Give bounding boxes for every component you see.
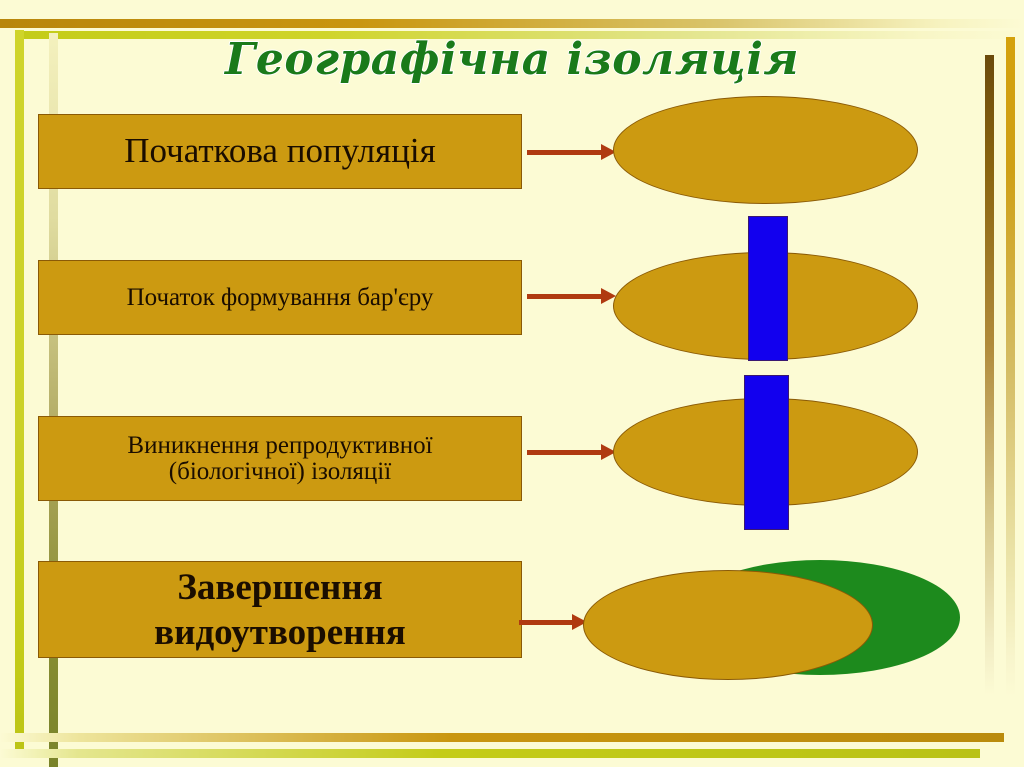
stage-1-population-ellipse [613,96,918,204]
stage-3-label-line-1: Виникнення репродуктивної [127,433,432,459]
stage-3-barrier-bar [744,375,789,530]
slide-canvas: Географічна ізоляція Початкова популяція… [0,0,1024,767]
frame-bar-bottom-inner [0,749,980,758]
arrow-shaft-icon [527,450,602,455]
frame-bar-right-outer [985,55,994,695]
frame-bar-top-outer [0,19,1024,28]
stage-2-arrow [527,292,616,300]
stage-4-arrow [519,618,587,626]
stage-4-label-box: Завершення видоутворення [38,561,522,658]
arrow-shaft-icon [519,620,573,625]
frame-bar-left-outer [15,30,24,750]
stage-3-label-line-2: (біологічної) ізоляції [169,459,391,485]
stage-4-label-line-2: видоутворення [39,610,521,655]
stage-1-arrow [527,148,616,156]
frame-bar-right-inner [1006,37,1015,697]
stage-2-label-line-1: Початок формування бар'єру [127,285,434,311]
stage-2-barrier-bar [748,216,788,361]
slide-title: Географічна ізоляція [0,34,1024,85]
stage-3-arrow [527,448,616,456]
arrow-shaft-icon [527,150,602,155]
stage-1-label-box: Початкова популяція [38,114,522,189]
stage-4-label-lines: Завершення видоутворення [39,564,521,654]
stage-1-label-line-1: Початкова популяція [124,133,436,169]
frame-bar-bottom-outer [0,733,1004,742]
stage-4-population-ellipse [583,570,873,680]
arrow-shaft-icon [527,294,602,299]
stage-4-label-line-1: Завершення [39,564,521,609]
stage-2-label-box: Початок формування бар'єру [38,260,522,335]
stage-3-label-box: Виникнення репродуктивної (біологічної) … [38,416,522,501]
